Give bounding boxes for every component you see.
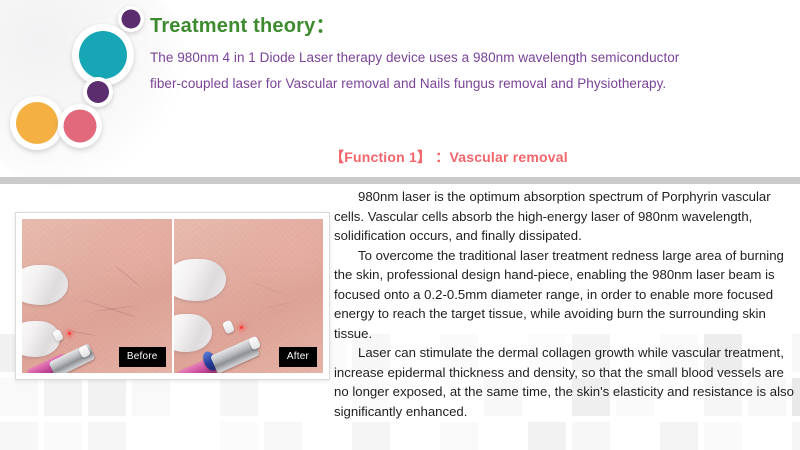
bubble-purple-small-top — [118, 6, 144, 32]
grid-square — [704, 422, 742, 450]
bubble-purple-small-mid — [83, 77, 113, 107]
photo-label-before: Before — [119, 347, 166, 367]
grid-square — [792, 422, 800, 450]
grid-square — [44, 378, 82, 416]
bubble-pink — [58, 104, 102, 148]
bubble-orange — [10, 96, 64, 150]
grid-square — [44, 422, 82, 450]
before-after-photo-panel: Before After — [15, 212, 330, 380]
bubble-core — [79, 31, 127, 79]
grid-square — [528, 422, 566, 450]
grid-square — [0, 378, 38, 416]
bubble-core — [122, 10, 141, 29]
grid-square — [220, 422, 258, 450]
grid-square — [88, 378, 126, 416]
header-block: Treatment theory： The 980nm 4 in 1 Diode… — [150, 14, 750, 97]
bubble-teal — [72, 24, 134, 86]
body-paragraph: 980nm laser is the optimum absorption sp… — [334, 187, 796, 246]
photo-after: After — [174, 219, 324, 373]
bubble-core — [87, 81, 109, 103]
bubble-core — [64, 110, 97, 143]
divider-band — [0, 177, 800, 184]
grid-square — [352, 422, 390, 450]
grid-square — [132, 378, 170, 416]
grid-square — [660, 422, 698, 450]
page-title: Treatment theory： — [150, 14, 750, 39]
photo-label-after: After — [279, 347, 317, 367]
grid-square — [440, 422, 478, 450]
grid-square — [0, 422, 38, 450]
body-paragraph: Laser can stimulate the dermal collagen … — [334, 343, 796, 421]
function-heading: 【Function 1】 ：Vascular removal — [330, 147, 568, 167]
grid-square — [220, 378, 258, 416]
decorative-bubble-cluster — [0, 0, 170, 160]
intro-paragraph: The 980nm 4 in 1 Diode Laser therapy dev… — [150, 45, 710, 97]
body-copy: 980nm laser is the optimum absorption sp… — [334, 187, 796, 421]
photo-strip: Before After — [22, 219, 323, 373]
laser-spot — [68, 332, 71, 335]
grid-square — [572, 422, 610, 450]
grid-square — [88, 422, 126, 450]
bubble-core — [16, 102, 58, 144]
laser-spot — [240, 326, 243, 329]
photo-before: Before — [22, 219, 172, 373]
body-paragraph: To overcome the traditional laser treatm… — [334, 246, 796, 344]
grid-square — [264, 422, 302, 450]
